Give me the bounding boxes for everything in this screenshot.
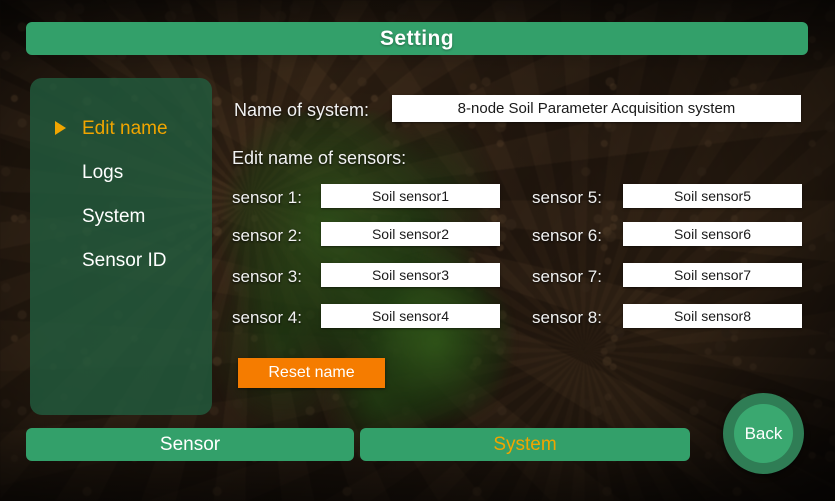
back-button-label: Back: [745, 424, 783, 444]
sensor-2-label: sensor 2:: [232, 226, 302, 246]
tab-sensor[interactable]: Sensor: [26, 428, 354, 461]
sensor-1-label: sensor 1:: [232, 188, 302, 208]
sensor-1-input[interactable]: [321, 184, 500, 208]
sensor-4-label: sensor 4:: [232, 308, 302, 328]
sensor-7-input[interactable]: [623, 263, 802, 287]
sidebar-item-system[interactable]: System: [30, 194, 212, 238]
reset-name-button[interactable]: Reset name: [238, 358, 385, 388]
tab-system-label: System: [493, 434, 556, 456]
sidebar-item-logs[interactable]: Logs: [30, 150, 212, 194]
sensor-4-input[interactable]: [321, 304, 500, 328]
sensor-5-input[interactable]: [623, 184, 802, 208]
sensor-7-label: sensor 7:: [532, 267, 602, 287]
sidebar-item-label: Sensor ID: [82, 251, 166, 270]
back-button-inner: Back: [734, 404, 793, 463]
page-title: Setting: [380, 27, 454, 51]
sensor-8-label: sensor 8:: [532, 308, 602, 328]
tab-sensor-label: Sensor: [160, 434, 220, 456]
sensor-3-input[interactable]: [321, 263, 500, 287]
sidebar-panel: Edit name Logs System Sensor ID: [30, 78, 212, 415]
sensor-8-input[interactable]: [623, 304, 802, 328]
sidebar-item-sensor-id[interactable]: Sensor ID: [30, 238, 212, 282]
sidebar-item-label: System: [82, 207, 145, 226]
system-name-label: Name of system:: [234, 100, 369, 121]
title-bar: Setting: [26, 22, 808, 55]
sensor-6-input[interactable]: [623, 222, 802, 246]
sidebar-item-label: Logs: [82, 163, 123, 182]
sidebar-item-label: Edit name: [82, 119, 168, 138]
back-button[interactable]: Back: [723, 393, 804, 474]
sensor-6-label: sensor 6:: [532, 226, 602, 246]
tab-system[interactable]: System: [360, 428, 690, 461]
setting-screen: Setting Edit name Logs System Sensor ID …: [0, 0, 835, 501]
sidebar-item-edit-name[interactable]: Edit name: [30, 106, 212, 150]
caret-right-icon: [55, 121, 66, 135]
edit-sensors-heading: Edit name of sensors:: [232, 148, 406, 169]
sensor-5-label: sensor 5:: [532, 188, 602, 208]
system-name-input[interactable]: [392, 95, 801, 122]
sensor-2-input[interactable]: [321, 222, 500, 246]
sensor-3-label: sensor 3:: [232, 267, 302, 287]
